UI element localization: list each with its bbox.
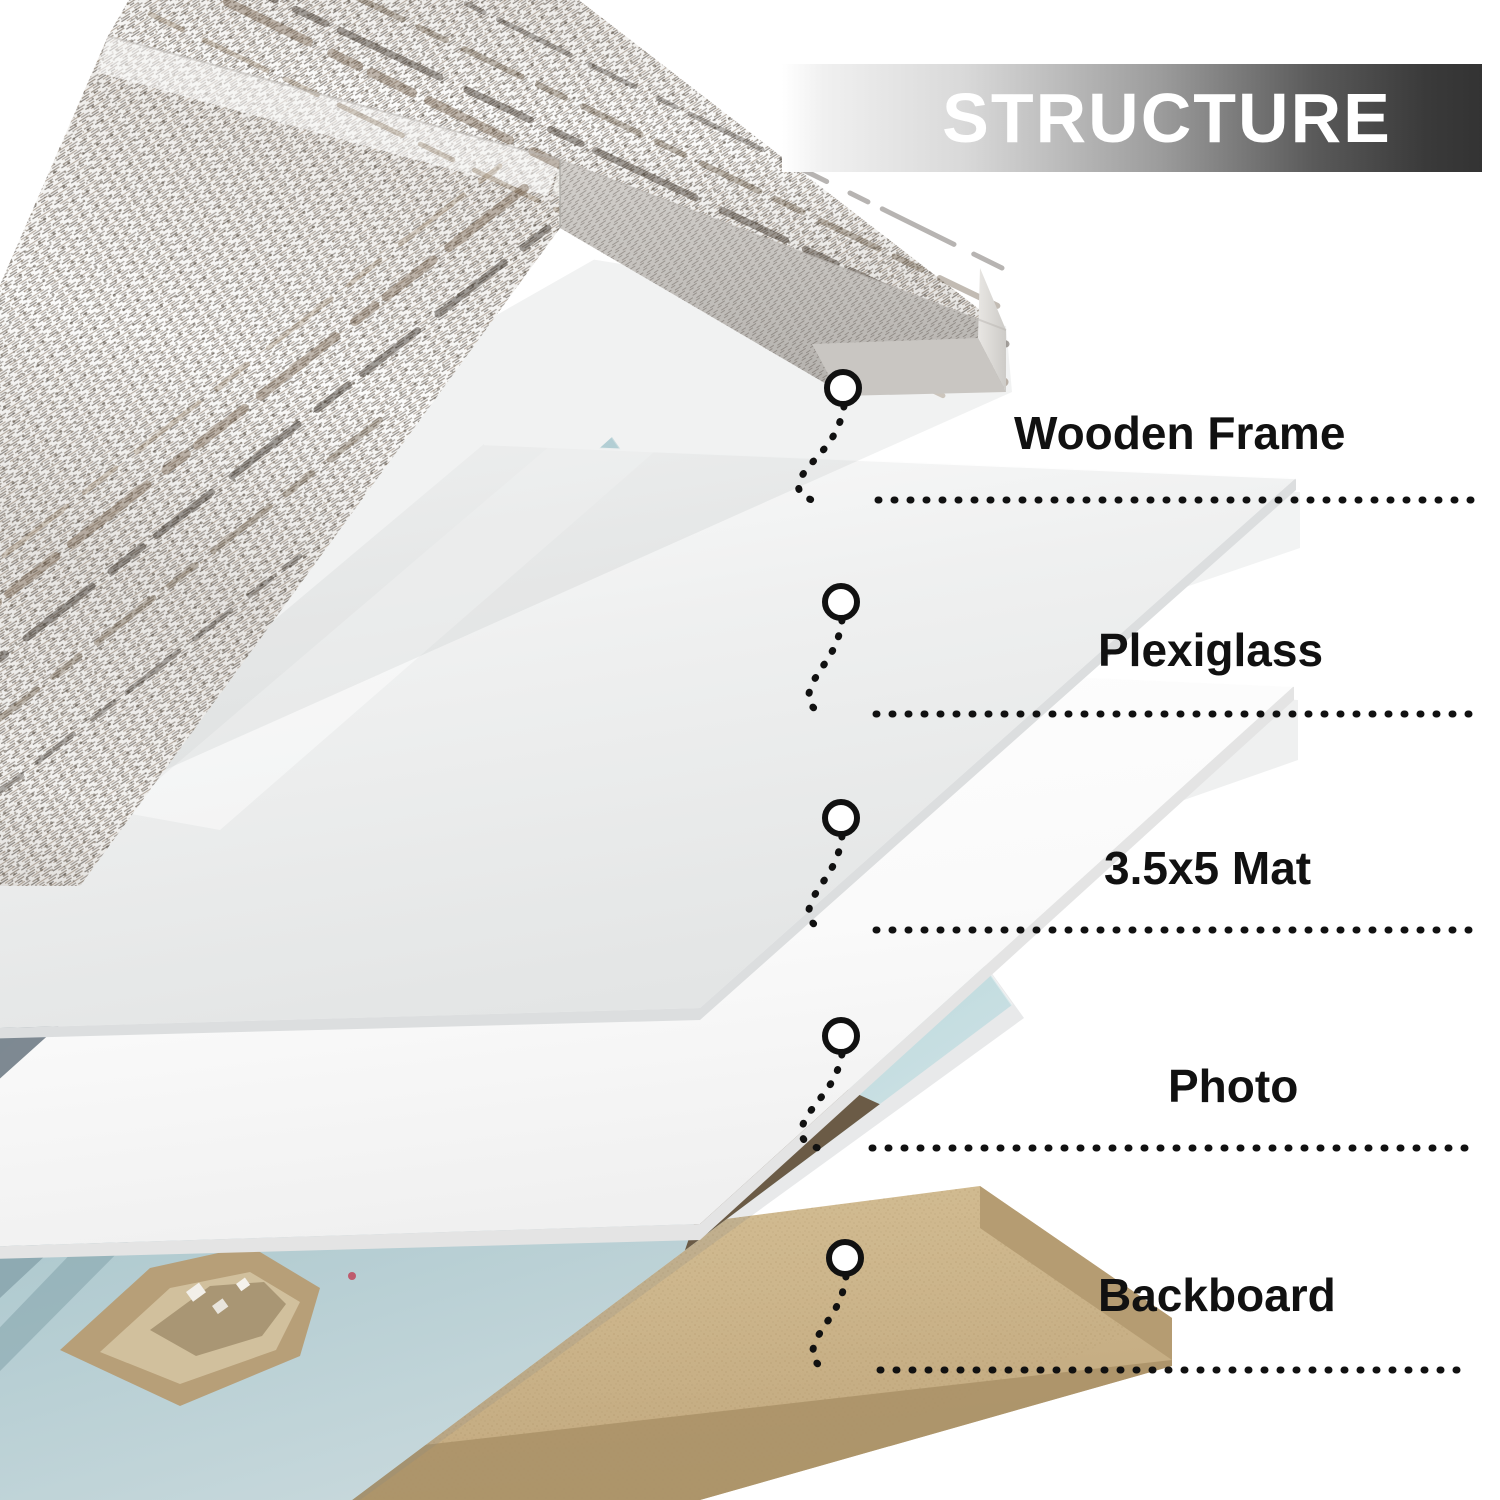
callout-dot-mat — [825, 802, 857, 834]
callout-dot-wooden-frame — [827, 372, 859, 404]
structure-banner: STRUCTURE — [782, 64, 1482, 172]
label-wooden-frame: Wooden Frame — [1014, 410, 1345, 456]
callout-dot-backboard — [829, 1242, 861, 1274]
banner-title: STRUCTURE — [872, 83, 1392, 153]
infographic-canvas: STRUCTURE Wooden Frame Plexiglass 3.5x5 … — [0, 0, 1500, 1500]
label-photo: Photo — [1168, 1063, 1298, 1109]
callout-dot-photo — [825, 1020, 857, 1052]
label-mat: 3.5x5 Mat — [1104, 845, 1311, 891]
callout-dot-plexiglass — [825, 586, 857, 618]
label-backboard: Backboard — [1098, 1272, 1336, 1318]
label-plexiglass: Plexiglass — [1098, 627, 1323, 673]
